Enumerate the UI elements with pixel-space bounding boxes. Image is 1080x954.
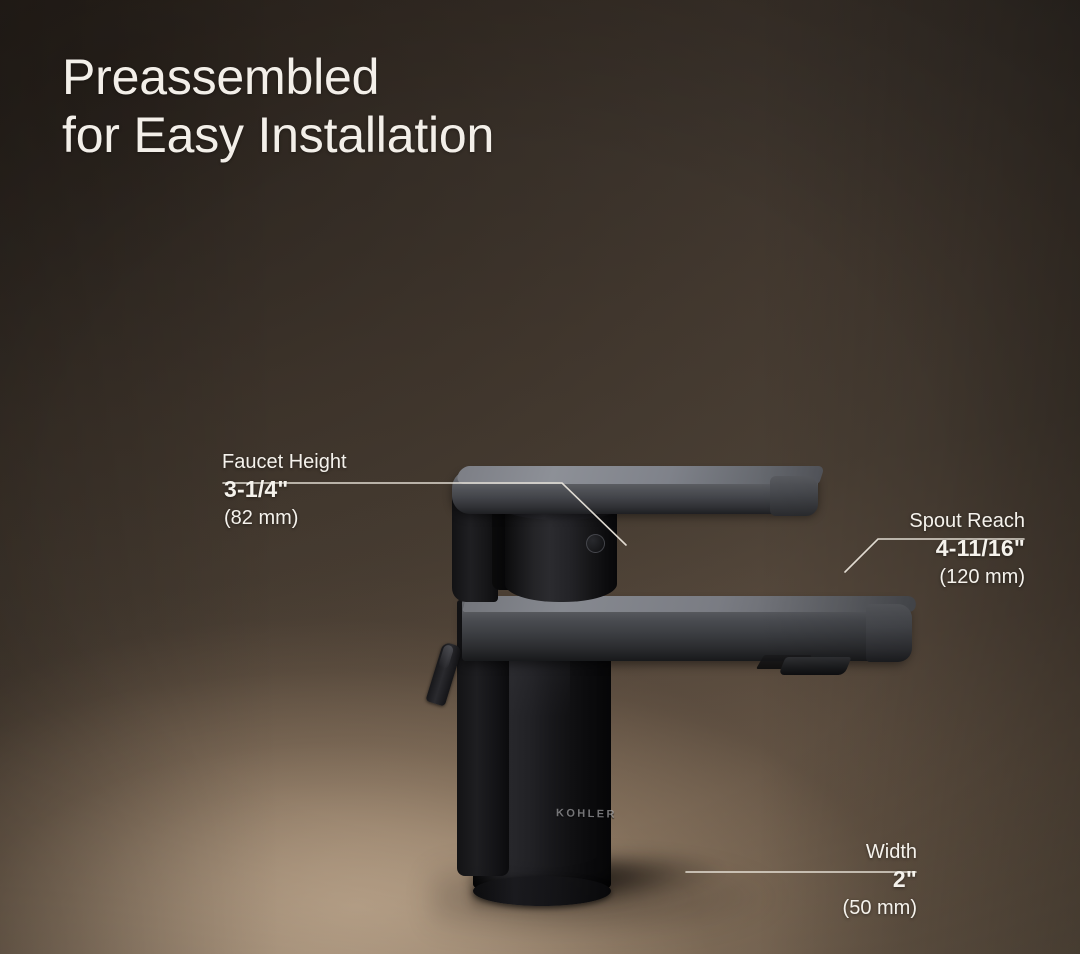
callout-faucet-height-value: 3-1/4" bbox=[222, 475, 347, 505]
callout-width-metric: (50 mm) bbox=[843, 895, 917, 921]
callout-width-label: Width bbox=[843, 840, 917, 865]
handle-hub-indicator-icon bbox=[586, 534, 605, 553]
callout-spout-reach-value: 4-11/16" bbox=[909, 534, 1025, 564]
kohler-wordmark: KOHLER bbox=[556, 807, 617, 821]
callout-spout-reach-metric: (120 mm) bbox=[909, 564, 1025, 590]
faucet-spout-tip bbox=[866, 604, 912, 662]
handle-lever-tip bbox=[770, 476, 818, 516]
callout-spout-reach-label: Spout Reach bbox=[909, 509, 1025, 534]
headline-line-2: for Easy Installation bbox=[62, 106, 702, 164]
callout-faucet-height-metric: (82 mm) bbox=[222, 505, 347, 531]
page-headline: Preassembled for Easy Installation bbox=[62, 48, 702, 164]
callout-width: Width 2" (50 mm) bbox=[843, 840, 917, 921]
callout-spout-reach: Spout Reach 4-11/16" (120 mm) bbox=[909, 509, 1025, 590]
callout-faucet-height-label: Faucet Height bbox=[222, 450, 347, 475]
callout-width-value: 2" bbox=[843, 865, 917, 895]
callout-faucet-height: Faucet Height 3-1/4" (82 mm) bbox=[222, 450, 347, 531]
faucet-base bbox=[473, 876, 611, 906]
faucet-aerator bbox=[778, 657, 851, 675]
headline-line-1: Preassembled bbox=[62, 49, 379, 105]
product-dimension-graphic: KOHLER Preassembled for Easy Installatio… bbox=[0, 0, 1080, 954]
